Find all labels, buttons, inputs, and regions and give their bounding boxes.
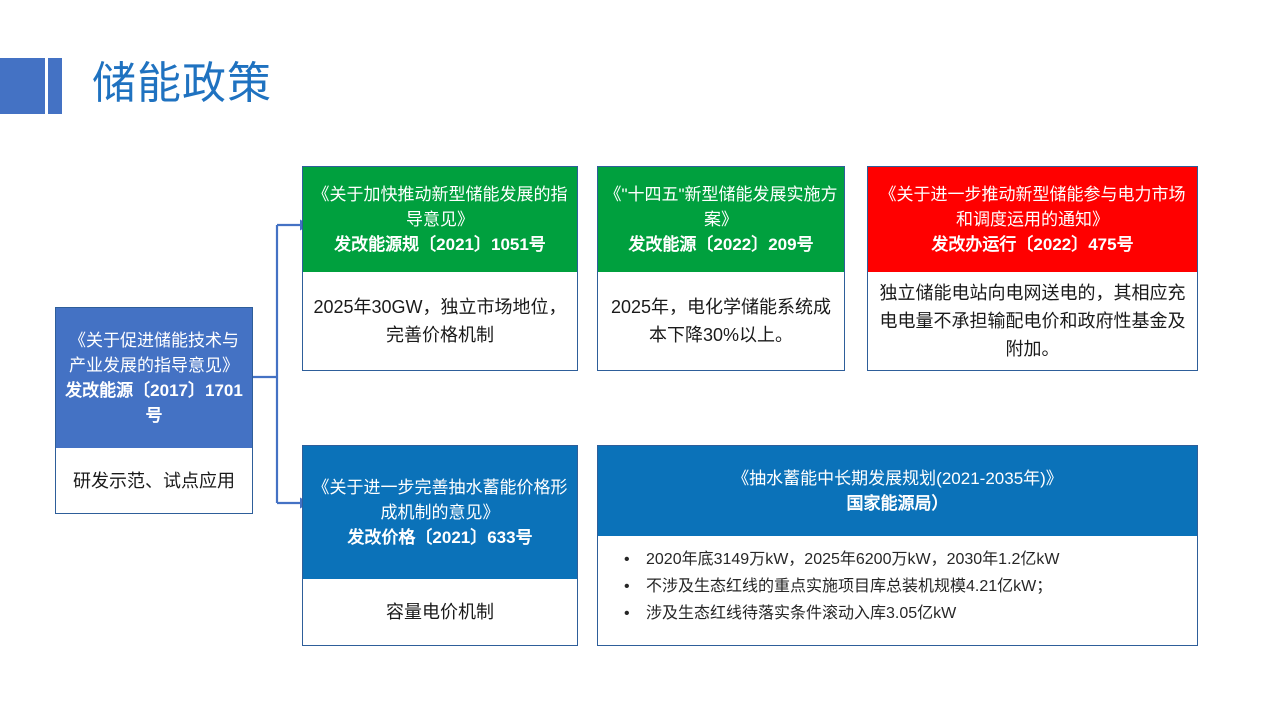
card-pumped-storage-price-policy[interactable]: 《关于进一步完善抽水蓄能价格形成机制的意见》 发改价格〔2021〕633号 容量… xyxy=(302,445,578,646)
card-header-code: 发改办运行〔2022〕475号 xyxy=(931,232,1133,257)
title-accent-bar-large xyxy=(0,58,45,114)
card-body: 独立储能电站向电网送电的，其相应充电电量不承担输配电价和政府性基金及附加。 xyxy=(868,272,1197,370)
card-header-title: 《关于进一步推动新型储能参与电力市场和调度运用的通知》 xyxy=(874,182,1191,232)
card-root-policy[interactable]: 《关于促进储能技术与产业发展的指导意见》 发改能源〔2017〕1701号 研发示… xyxy=(55,307,253,514)
card-header-title: 《关于促进储能技术与产业发展的指导意见》 xyxy=(62,328,246,378)
list-item: 2020年底3149万kW，2025年6200万kW，2030年1.2亿kW xyxy=(616,546,1183,573)
card-header: 《关于加快推动新型储能发展的指导意见》 发改能源规〔2021〕1051号 xyxy=(303,167,577,272)
card-pumped-storage-plan-policy[interactable]: 《抽水蓄能中长期发展规划(2021-2035年)》 国家能源局） 2020年底3… xyxy=(597,445,1198,646)
card-header-code: 发改价格〔2021〕633号 xyxy=(347,525,532,550)
card-guidance-policy[interactable]: 《关于加快推动新型储能发展的指导意见》 发改能源规〔2021〕1051号 202… xyxy=(302,166,578,371)
card-header-title: 《关于进一步完善抽水蓄能价格形成机制的意见》 xyxy=(309,475,571,525)
connector-arrows xyxy=(250,215,310,515)
card-header: 《抽水蓄能中长期发展规划(2021-2035年)》 国家能源局） xyxy=(598,446,1197,536)
card-145-plan-policy[interactable]: 《"十四五"新型储能发展实施方案》 发改能源〔2022〕209号 2025年，电… xyxy=(597,166,845,371)
card-body: 2025年30GW，独立市场地位，完善价格机制 xyxy=(303,272,577,370)
title-accent-bar-small xyxy=(48,58,62,114)
list-item: 不涉及生态红线的重点实施项目库总装机规模4.21亿kW； xyxy=(616,573,1183,600)
card-body: 容量电价机制 xyxy=(303,579,577,645)
page-title: 储能政策 xyxy=(92,52,272,116)
card-body: 2020年底3149万kW，2025年6200万kW，2030年1.2亿kW不涉… xyxy=(598,536,1197,645)
card-header-title: 《抽水蓄能中长期发展规划(2021-2035年)》 xyxy=(732,466,1063,491)
bullet-list: 2020年底3149万kW，2025年6200万kW，2030年1.2亿kW不涉… xyxy=(616,546,1183,627)
card-header-title: 《关于加快推动新型储能发展的指导意见》 xyxy=(309,182,571,232)
card-body: 研发示范、试点应用 xyxy=(56,448,252,513)
card-market-participation-policy[interactable]: 《关于进一步推动新型储能参与电力市场和调度运用的通知》 发改办运行〔2022〕4… xyxy=(867,166,1198,371)
card-header-code: 发改能源规〔2021〕1051号 xyxy=(334,232,546,257)
card-header-code: 发改能源〔2017〕1701号 xyxy=(62,378,246,428)
card-header: 《关于进一步完善抽水蓄能价格形成机制的意见》 发改价格〔2021〕633号 xyxy=(303,446,577,579)
card-header-title: 《"十四五"新型储能发展实施方案》 xyxy=(604,182,838,232)
card-header: 《关于促进储能技术与产业发展的指导意见》 发改能源〔2017〕1701号 xyxy=(56,308,252,448)
list-item: 涉及生态红线待落实条件滚动入库3.05亿kW xyxy=(616,600,1183,627)
card-header: 《关于进一步推动新型储能参与电力市场和调度运用的通知》 发改办运行〔2022〕4… xyxy=(868,167,1197,272)
card-header-code: 发改能源〔2022〕209号 xyxy=(628,232,813,257)
card-header-code: 国家能源局） xyxy=(847,491,949,516)
card-body: 2025年，电化学储能系统成本下降30%以上。 xyxy=(598,272,844,370)
card-header: 《"十四五"新型储能发展实施方案》 发改能源〔2022〕209号 xyxy=(598,167,844,272)
